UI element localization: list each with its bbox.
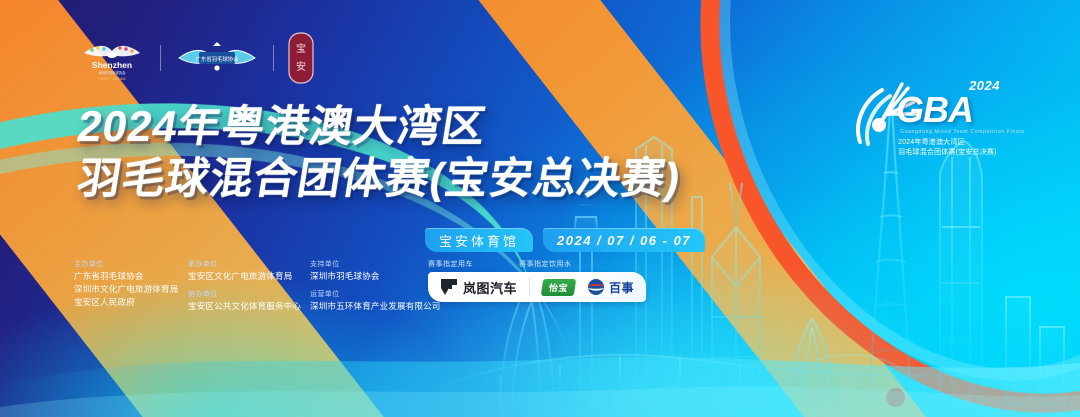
- banner-title-block: 2024年粤港澳大湾区 羽毛球混合团体赛(宝安总决赛): [78, 103, 681, 203]
- organizer-column-1: 主办单位 广东省羽毛球协会 深圳市文化广电旅游体育局 宝安区人民政府: [74, 259, 166, 314]
- organizer-label: 承办单位: [188, 259, 288, 269]
- organizer-name: 宝安区公共文化体育服务中心: [188, 301, 288, 312]
- shenzhen-logo-tagline: FIGHT · DREAM: [99, 77, 126, 81]
- organizer-column-2: 承办单位 宝安区文化广电旅游体育局 协办单位 宝安区公共文化体育服务中心: [188, 259, 288, 314]
- title-line-2: 羽毛球混合团体赛(宝安总决赛): [74, 155, 684, 203]
- sponsor-labels: 赛事指定用车 赛事指定饮用水: [428, 259, 646, 269]
- voyah-sponsor-logo: 岚图汽车: [440, 277, 517, 297]
- organizer-label: 支持单位: [310, 259, 410, 269]
- shenzhen-wings-logo: Shenzhen 深圳市羽毛球协会 FIGHT · DREAM: [78, 33, 146, 83]
- organizer-label: 主办单位: [74, 259, 166, 269]
- organizer-name: 深圳市五环体育产业发展有限公司: [310, 301, 410, 312]
- organizer-name: 广东省羽毛球协会: [74, 271, 166, 282]
- guangdong-badminton-association-logo: 广东省羽毛球协会: [175, 38, 259, 78]
- organizer-column-3: 支持单位 深圳市羽毛球协会 运营单位 深圳市五环体育产业发展有限公司: [310, 259, 410, 314]
- organizer-label: 协办单位: [188, 289, 288, 299]
- voyah-sponsor-name: 岚图汽车: [463, 278, 517, 297]
- organizer-name: 深圳市羽毛球协会: [310, 271, 410, 282]
- venue-date-row: 宝安体育馆 2024 / 07 / 06 - 07: [425, 228, 705, 252]
- gba-badge-wordmark: GBA: [896, 92, 973, 128]
- sponsor-logo-plate: 岚图汽车 怡宝 百事: [428, 272, 646, 302]
- pepsi-globe-icon: [587, 278, 605, 296]
- partner-logo-strip: Shenzhen 深圳市羽毛球协会 FIGHT · DREAM 广东省羽毛球协会…: [78, 32, 314, 84]
- organizer-label: 运营单位: [310, 289, 410, 299]
- svg-text:宝: 宝: [296, 42, 306, 55]
- gba-event-badge: 2024 GBA Guangdong Mixed Team Competitio…: [852, 78, 1002, 164]
- title-line-1: 2024年粤港澳大湾区: [74, 103, 684, 151]
- organizer-columns: 主办单位 广东省羽毛球协会 深圳市文化广电旅游体育局 宝安区人民政府 承办单位 …: [74, 259, 410, 314]
- guangdong-logo-text: 广东省羽毛球协会: [195, 55, 239, 63]
- organizer-name: 深圳市文化广电旅游体育局: [74, 284, 166, 295]
- gba-badge-year: 2024: [969, 78, 1000, 93]
- gba-badge-cn-line-2: 羽毛球混合团体赛(宝安总决赛): [898, 147, 997, 157]
- sponsor-label-vehicle: 赛事指定用车: [428, 259, 473, 269]
- sponsor-divider-1: [529, 278, 530, 296]
- sponsor-section: 赛事指定用车 赛事指定饮用水 岚图汽车 怡宝 百事: [428, 259, 646, 302]
- cestbon-sponsor-logo: 怡宝: [541, 279, 576, 296]
- pepsi-sponsor-name: 百事: [609, 279, 634, 296]
- sponsor-label-water: 赛事指定饮用水: [519, 259, 572, 269]
- red-seal-logo: 宝 安: [288, 32, 314, 84]
- event-banner: Shenzhen 深圳市羽毛球协会 FIGHT · DREAM 广东省羽毛球协会…: [0, 0, 1080, 417]
- gba-badge-english-subtitle: Guangdong Mixed Team Competition Finals: [900, 129, 1024, 135]
- pepsi-sponsor-logo: 百事: [587, 278, 634, 296]
- voyah-mark-icon: [440, 277, 458, 297]
- logo-divider-1: [160, 45, 161, 71]
- date-pill: 2024 / 07 / 06 - 07: [543, 228, 705, 252]
- svg-text:安: 安: [296, 60, 306, 73]
- shenzhen-logo-subtext: 深圳市羽毛球协会: [98, 70, 126, 75]
- gba-badge-cn-line-1: 2024年粤港澳大湾区: [898, 137, 965, 147]
- venue-pill: 宝安体育馆: [425, 228, 533, 252]
- organizer-name: 宝安区文化广电旅游体育局: [188, 271, 288, 282]
- shenzhen-logo-wordmark: Shenzhen: [92, 60, 132, 70]
- organizer-name: 宝安区人民政府: [74, 297, 166, 308]
- logo-divider-2: [273, 45, 274, 71]
